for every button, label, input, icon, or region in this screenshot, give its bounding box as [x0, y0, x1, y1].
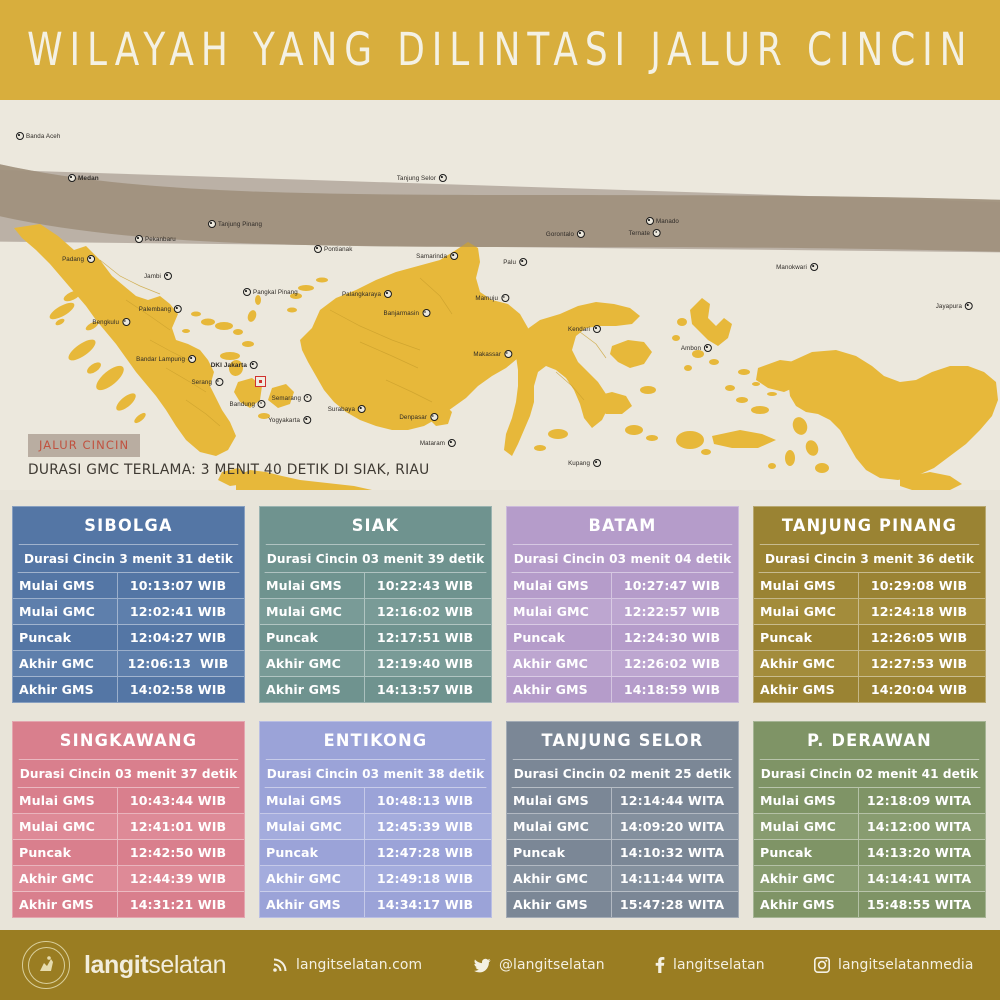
card-row-label: Mulai GMS — [507, 788, 612, 813]
city-name: Medan — [76, 175, 101, 182]
city-name: Palembang — [137, 306, 174, 313]
city-marker-icon — [164, 272, 172, 280]
card-row-label: Puncak — [754, 840, 859, 865]
city-name: Gorontalo — [544, 231, 577, 238]
card-row-label: Akhir GMC — [260, 651, 365, 676]
card-row-label: Mulai GMC — [260, 599, 365, 624]
map-city-label: Palu — [501, 258, 527, 266]
social-link-instagram[interactable]: langitselatanmedia — [814, 957, 979, 973]
map-duration-note: DURASI GMC TERLAMA: 3 MENIT 40 DETIK DI … — [28, 462, 430, 478]
card-table-row: Mulai GMS12:14:44 WITA — [507, 788, 738, 814]
map-city-label: Bandar Lampung — [134, 355, 196, 363]
header-banner: WILAYAH YANG DILINTASI JALUR CINCIN — [0, 0, 1000, 100]
map-city-label: Jambi — [142, 272, 172, 280]
rss-icon — [272, 957, 288, 973]
brand-wordmark: langitselatan — [84, 951, 226, 980]
card-row-time: 10:43:44 WIB — [118, 788, 244, 813]
card-duration-subtitle: Durasi Cincin 03 menit 37 detik — [18, 760, 240, 788]
social-link-facebook[interactable]: langitselatan — [655, 957, 768, 973]
city-marker-icon — [68, 174, 76, 182]
card-duration-subtitle: Durasi Cincin 3 menit 36 detik — [759, 545, 981, 573]
card-row-time: 12:06:13 WIB — [118, 651, 244, 676]
card-row-label: Akhir GMS — [13, 892, 118, 917]
card-row-time: 12:17:51 WIB — [365, 625, 491, 650]
city-marker-icon — [258, 400, 266, 408]
map-city-label: Mataram — [418, 439, 456, 447]
map-city-label: Padang — [60, 255, 95, 263]
card-row-label: Mulai GMS — [754, 788, 859, 813]
card-table-row: Akhir GMC12:44:39 WIB — [13, 866, 244, 892]
city-marker-icon — [87, 255, 95, 263]
card-row-time: 12:49:18 WIB — [365, 866, 491, 891]
city-name: Makassar — [471, 351, 504, 358]
map-city-label: Kendari — [566, 325, 601, 333]
city-marker-icon — [653, 229, 661, 237]
map-city-label: Pangkal Pinang — [243, 288, 300, 296]
facebook-icon — [655, 957, 665, 973]
card-row-time: 14:14:41 WITA — [859, 866, 985, 891]
card-row-time: 12:41:01 WIB — [118, 814, 244, 839]
timing-card: TANJUNG SELORDurasi Cincin 02 menit 25 d… — [506, 721, 739, 918]
city-marker-icon — [250, 361, 258, 369]
card-city-title: TANJUNG SELOR — [513, 722, 732, 760]
city-name: Palangkaraya — [340, 291, 384, 298]
card-row-time: 12:24:18 WIB — [859, 599, 985, 624]
brand-name-bold: langit — [84, 951, 148, 979]
map-city-label: Mamuju — [473, 294, 509, 302]
card-duration-subtitle: Durasi Cincin 3 menit 31 detik — [18, 545, 240, 573]
social-link-label: langitselatan.com — [296, 957, 422, 973]
card-table-row: Akhir GMC14:11:44 WITA — [507, 866, 738, 892]
brand-name-light: selatan — [148, 951, 226, 979]
card-city-title: ENTIKONG — [266, 722, 485, 760]
card-row-label: Akhir GMS — [507, 677, 612, 702]
card-row-time: 14:20:04 WIB — [859, 677, 985, 702]
card-table-row: Mulai GMC12:22:57 WIB — [507, 599, 738, 625]
map-city-label: Banjarmasin — [382, 309, 431, 317]
card-row-time: 14:09:20 WITA — [612, 814, 738, 839]
infographic-page: WILAYAH YANG DILINTASI JALUR CINCIN — [0, 0, 1000, 1000]
card-table-row: Akhir GMS14:31:21 WIB — [13, 892, 244, 917]
social-link-label: langitselatanmedia — [838, 957, 973, 973]
map-city-label: Makassar — [471, 350, 512, 358]
city-marker-icon — [243, 288, 251, 296]
card-row-time: 14:34:17 WIB — [365, 892, 491, 917]
map-city-label: Surabaya — [326, 405, 366, 413]
card-row-label: Akhir GMS — [754, 677, 859, 702]
card-row-label: Akhir GMS — [13, 677, 118, 702]
map-city-label: Jayapura — [934, 302, 973, 310]
city-marker-icon — [519, 258, 527, 266]
city-marker-icon — [646, 217, 654, 225]
card-row-time: 12:26:05 WIB — [859, 625, 985, 650]
city-name: Kendari — [566, 326, 593, 333]
city-name: Banjarmasin — [382, 310, 423, 317]
card-table-row: Akhir GMC12:19:40 WIB — [260, 651, 491, 677]
card-row-label: Akhir GMC — [507, 866, 612, 891]
card-table-row: Akhir GMC12:27:53 WIB — [754, 651, 985, 677]
card-table-row: Mulai GMS10:22:43 WIB — [260, 573, 491, 599]
city-marker-icon — [450, 252, 458, 260]
card-row-label: Akhir GMC — [754, 866, 859, 891]
card-row-label: Mulai GMC — [13, 599, 118, 624]
card-table-row: Akhir GMC12:49:18 WIB — [260, 866, 491, 892]
card-row-time: 14:11:44 WITA — [612, 866, 738, 891]
card-table-row: Akhir GMS14:13:57 WIB — [260, 677, 491, 702]
card-row-time: 12:22:57 WIB — [612, 599, 738, 624]
city-marker-icon — [422, 309, 430, 317]
card-row-label: Akhir GMC — [754, 651, 859, 676]
card-row-time: 12:42:50 WIB — [118, 840, 244, 865]
map-city-label: Ternate — [627, 229, 661, 237]
city-name: Bandar Lampung — [134, 356, 188, 363]
logo-inner-ring — [28, 947, 65, 984]
timing-card: SIAKDurasi Cincin 03 menit 39 detikMulai… — [259, 506, 492, 703]
card-row-time: 12:02:41 WIB — [118, 599, 244, 624]
logo-figure-icon — [34, 953, 58, 977]
card-row-time: 12:18:09 WITA — [859, 788, 985, 813]
card-row-time: 10:13:07 WIB — [118, 573, 244, 598]
city-name: Banda Aceh — [24, 133, 62, 140]
card-table-row: Mulai GMS12:18:09 WITA — [754, 788, 985, 814]
map-city-label: Denpasar — [397, 413, 438, 421]
city-marker-icon — [188, 355, 196, 363]
card-row-time: 15:48:55 WITA — [859, 892, 985, 917]
card-table-row: Puncak12:17:51 WIB — [260, 625, 491, 651]
card-row-time: 14:13:20 WITA — [859, 840, 985, 865]
card-row-label: Puncak — [260, 625, 365, 650]
map-city-label: Bengkulu — [90, 318, 130, 326]
card-table-row: Mulai GMS10:13:07 WIB — [13, 573, 244, 599]
card-table-row: Puncak14:13:20 WITA — [754, 840, 985, 866]
card-row-label: Akhir GMC — [13, 651, 118, 676]
card-table-row: Mulai GMC12:45:39 WIB — [260, 814, 491, 840]
card-duration-subtitle: Durasi Cincin 02 menit 25 detik — [512, 760, 734, 788]
card-duration-subtitle: Durasi Cincin 03 menit 38 detik — [265, 760, 487, 788]
map-city-label: Pontianak — [314, 245, 354, 253]
social-links: langitselatan.com@langitselatanlangitsel… — [226, 957, 979, 973]
city-name: Jambi — [142, 273, 164, 280]
card-table-row: Akhir GMS15:47:28 WITA — [507, 892, 738, 917]
twitter-icon — [474, 958, 491, 973]
city-name: Denpasar — [397, 414, 430, 421]
map-city-label: Ambon — [679, 344, 712, 352]
card-table-row: Akhir GMC14:14:41 WITA — [754, 866, 985, 892]
city-marker-icon — [358, 405, 366, 413]
city-marker-icon — [135, 235, 143, 243]
city-marker-icon — [965, 302, 973, 310]
card-duration-subtitle: Durasi Cincin 03 menit 39 detik — [265, 545, 487, 573]
card-row-time: 12:14:44 WITA — [612, 788, 738, 813]
brand-block: langitselatan — [22, 941, 226, 989]
map-city-label: Medan — [68, 174, 101, 182]
card-row-time: 14:02:58 WIB — [118, 677, 244, 702]
card-table-row: Akhir GMS14:20:04 WIB — [754, 677, 985, 702]
social-link-twitter[interactable]: @langitselatan — [474, 957, 609, 973]
city-marker-icon — [593, 459, 601, 467]
card-table-row: Puncak14:10:32 WITA — [507, 840, 738, 866]
city-marker-icon — [122, 318, 130, 326]
city-name: Semarang — [270, 395, 304, 402]
city-name: Bandung — [228, 401, 258, 408]
city-name: Mamuju — [473, 295, 501, 302]
city-name: DKI Jakarta — [209, 362, 250, 369]
card-row-time: 12:26:02 WIB — [612, 651, 738, 676]
card-table-row: Akhir GMS14:34:17 WIB — [260, 892, 491, 917]
city-marker-icon — [304, 394, 312, 402]
map-city-label: Manokwari — [774, 263, 818, 271]
card-row-time: 12:27:53 WIB — [859, 651, 985, 676]
card-row-label: Akhir GMS — [754, 892, 859, 917]
city-marker-icon — [504, 350, 512, 358]
city-marker-icon — [314, 245, 322, 253]
card-row-label: Mulai GMC — [507, 599, 612, 624]
card-table-row: Puncak12:04:27 WIB — [13, 625, 244, 651]
card-row-time: 10:48:13 WIB — [365, 788, 491, 813]
city-name: Mataram — [418, 440, 448, 447]
card-row-label: Akhir GMC — [13, 866, 118, 891]
timing-card: P. DERAWANDurasi Cincin 02 menit 41 deti… — [753, 721, 986, 918]
card-table-row: Mulai GMC12:16:02 WIB — [260, 599, 491, 625]
card-row-time: 12:24:30 WIB — [612, 625, 738, 650]
city-name: Surabaya — [326, 406, 358, 413]
map-city-label: Pekanbaru — [135, 235, 178, 243]
card-city-title: SINGKAWANG — [19, 722, 238, 760]
city-name: Palu — [501, 259, 519, 266]
card-table-row: Mulai GMS10:29:08 WIB — [754, 573, 985, 599]
card-table-row: Mulai GMC12:02:41 WIB — [13, 599, 244, 625]
map-city-label: Manado — [646, 217, 681, 225]
card-table-row: Akhir GMS15:48:55 WITA — [754, 892, 985, 917]
city-marker-icon — [174, 305, 182, 313]
card-row-time: 14:13:57 WIB — [365, 677, 491, 702]
card-row-label: Puncak — [13, 840, 118, 865]
card-table-row: Puncak12:24:30 WIB — [507, 625, 738, 651]
timing-card: TANJUNG PINANGDurasi Cincin 3 menit 36 d… — [753, 506, 986, 703]
city-name: Tanjung Pinang — [216, 221, 264, 228]
card-row-label: Mulai GMC — [754, 814, 859, 839]
city-marker-icon — [384, 290, 392, 298]
map-city-label: Palangkaraya — [340, 290, 392, 298]
city-name: Kupang — [566, 460, 593, 467]
card-row-time: 12:47:28 WIB — [365, 840, 491, 865]
city-name: Pekanbaru — [143, 236, 178, 243]
map-city-label: Semarang — [270, 394, 312, 402]
card-table-row: Puncak12:47:28 WIB — [260, 840, 491, 866]
city-name: Bengkulu — [90, 319, 122, 326]
jakarta-capital-marker-icon — [255, 376, 266, 387]
card-table-row: Akhir GMS14:02:58 WIB — [13, 677, 244, 702]
city-marker-icon — [704, 344, 712, 352]
card-row-time: 12:16:02 WIB — [365, 599, 491, 624]
card-city-title: BATAM — [513, 507, 732, 545]
city-name: Tanjung Selor — [395, 175, 439, 182]
card-row-label: Mulai GMS — [260, 788, 365, 813]
card-table-row: Puncak12:26:05 WIB — [754, 625, 985, 651]
card-table-row: Mulai GMC14:12:00 WITA — [754, 814, 985, 840]
card-table-row: Puncak12:42:50 WIB — [13, 840, 244, 866]
city-marker-icon — [215, 378, 223, 386]
city-name: Samarinda — [414, 253, 450, 260]
city-marker-icon — [593, 325, 601, 333]
city-marker-icon — [439, 174, 447, 182]
map-city-label: DKI Jakarta — [209, 361, 258, 369]
card-row-time: 12:45:39 WIB — [365, 814, 491, 839]
page-title: WILAYAH YANG DILINTASI JALUR CINCIN — [27, 24, 973, 76]
city-marker-icon — [577, 230, 585, 238]
city-marker-icon — [810, 263, 818, 271]
city-name: Yogyakarta — [266, 417, 303, 424]
social-link-rss[interactable]: langitselatan.com — [272, 957, 427, 973]
card-row-label: Puncak — [754, 625, 859, 650]
city-name: Pangkal Pinang — [251, 289, 300, 296]
instagram-icon — [814, 957, 830, 973]
card-row-label: Puncak — [13, 625, 118, 650]
map-city-label: Tanjung Pinang — [208, 220, 264, 228]
card-row-label: Puncak — [260, 840, 365, 865]
card-row-time: 14:31:21 WIB — [118, 892, 244, 917]
timing-card: SIBOLGADurasi Cincin 3 menit 31 detikMul… — [12, 506, 245, 703]
social-link-label: @langitselatan — [499, 957, 605, 973]
card-row-label: Mulai GMC — [507, 814, 612, 839]
card-table-row: Akhir GMC12:06:13 WIB — [13, 651, 244, 677]
card-row-label: Akhir GMC — [260, 866, 365, 891]
city-marker-icon — [448, 439, 456, 447]
card-table-row: Mulai GMC12:41:01 WIB — [13, 814, 244, 840]
card-row-time: 12:04:27 WIB — [118, 625, 244, 650]
map-city-label: Banda Aceh — [16, 132, 62, 140]
card-row-label: Mulai GMS — [260, 573, 365, 598]
social-link-label: langitselatan — [673, 957, 765, 973]
card-row-time: 14:18:59 WIB — [612, 677, 738, 702]
map-city-label: Tanjung Selor — [395, 174, 447, 182]
card-table-row: Mulai GMS10:27:47 WIB — [507, 573, 738, 599]
card-row-label: Puncak — [507, 625, 612, 650]
card-table-row: Mulai GMS10:48:13 WIB — [260, 788, 491, 814]
map-city-label: Bandung — [228, 400, 266, 408]
card-row-time: 10:27:47 WIB — [612, 573, 738, 598]
card-city-title: SIAK — [266, 507, 485, 545]
map-city-label: Yogyakarta — [266, 416, 311, 424]
map-panel: Banda AcehMedanTanjung PinangPekanbaruPa… — [0, 100, 1000, 490]
card-row-label: Akhir GMS — [260, 677, 365, 702]
card-duration-subtitle: Durasi Cincin 03 menit 04 detik — [512, 545, 734, 573]
map-city-label: Gorontalo — [544, 230, 585, 238]
city-name: Ternate — [627, 230, 653, 237]
card-table-row: Mulai GMC12:24:18 WIB — [754, 599, 985, 625]
card-row-time: 14:10:32 WITA — [612, 840, 738, 865]
timing-card: ENTIKONGDurasi Cincin 03 menit 38 detikM… — [259, 721, 492, 918]
timing-card: SINGKAWANGDurasi Cincin 03 menit 37 deti… — [12, 721, 245, 918]
card-table-row: Akhir GMS14:18:59 WIB — [507, 677, 738, 702]
city-name: Padang — [60, 256, 87, 263]
timing-card: BATAMDurasi Cincin 03 menit 04 detikMula… — [506, 506, 739, 703]
city-marker-icon — [303, 416, 311, 424]
langitselatan-logo-icon — [22, 941, 70, 989]
city-name: Ambon — [679, 345, 704, 352]
card-table-row: Mulai GMS10:43:44 WIB — [13, 788, 244, 814]
card-city-title: P. DERAWAN — [760, 722, 979, 760]
card-row-time: 12:19:40 WIB — [365, 651, 491, 676]
card-table-row: Akhir GMC12:26:02 WIB — [507, 651, 738, 677]
city-name: Manado — [654, 218, 681, 225]
card-row-time: 14:12:00 WITA — [859, 814, 985, 839]
card-row-time: 10:29:08 WIB — [859, 573, 985, 598]
map-city-label: Kupang — [566, 459, 601, 467]
card-row-time: 15:47:28 WITA — [612, 892, 738, 917]
card-table-row: Mulai GMC14:09:20 WITA — [507, 814, 738, 840]
card-row-label: Akhir GMS — [507, 892, 612, 917]
city-name: Jayapura — [934, 303, 965, 310]
city-name: Pontianak — [322, 246, 354, 253]
card-row-label: Mulai GMS — [507, 573, 612, 598]
map-city-label: Serang — [189, 378, 223, 386]
city-marker-icon — [16, 132, 24, 140]
city-name: Manokwari — [774, 264, 810, 271]
city-timing-cards: SIBOLGADurasi Cincin 3 menit 31 detikMul… — [0, 500, 1000, 930]
card-row-label: Mulai GMS — [754, 573, 859, 598]
card-row-label: Puncak — [507, 840, 612, 865]
card-row-time: 10:22:43 WIB — [365, 573, 491, 598]
city-name: Serang — [189, 379, 215, 386]
card-row-label: Akhir GMS — [260, 892, 365, 917]
card-row-label: Akhir GMC — [507, 651, 612, 676]
footer-bar: langitselatan langitselatan.com@langitse… — [0, 930, 1000, 1000]
map-city-label: Palembang — [137, 305, 182, 313]
city-marker-icon — [501, 294, 509, 302]
city-marker-icon — [430, 413, 438, 421]
card-city-title: TANJUNG PINANG — [760, 507, 979, 545]
map-city-label: Samarinda — [414, 252, 458, 260]
card-row-label: Mulai GMC — [754, 599, 859, 624]
legend-jalur-cincin: JALUR CINCIN — [28, 434, 140, 457]
card-city-title: SIBOLGA — [19, 507, 238, 545]
card-row-label: Mulai GMC — [260, 814, 365, 839]
card-row-label: Mulai GMS — [13, 573, 118, 598]
city-marker-icon — [208, 220, 216, 228]
card-duration-subtitle: Durasi Cincin 02 menit 41 detik — [759, 760, 981, 788]
card-row-label: Mulai GMC — [13, 814, 118, 839]
card-row-label: Mulai GMS — [13, 788, 118, 813]
card-row-time: 12:44:39 WIB — [118, 866, 244, 891]
